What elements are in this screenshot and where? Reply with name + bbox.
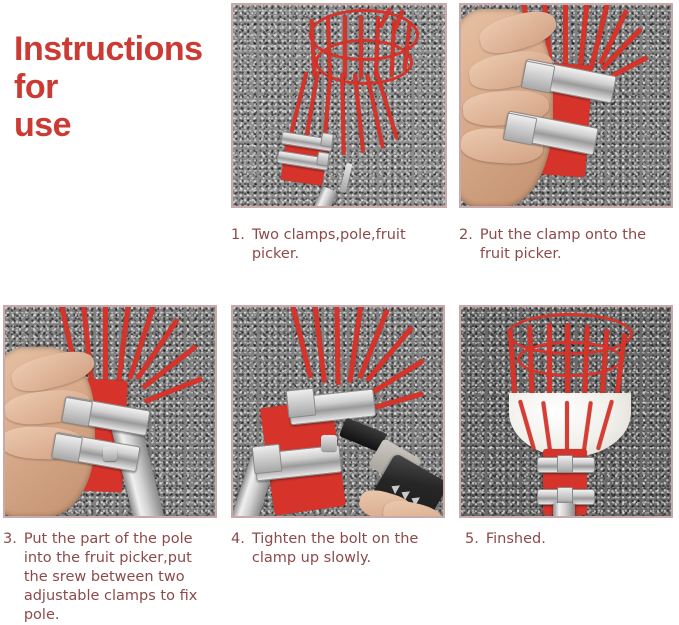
step-1-number: 1. xyxy=(231,226,249,264)
bolt xyxy=(321,435,337,451)
step-4-number: 4. xyxy=(231,530,249,568)
step-4-text: Tighten the bolt on the clamp up slowly. xyxy=(252,530,445,568)
step-5-number: 5. xyxy=(465,530,483,549)
instruction-sheet: Instructions for use xyxy=(0,0,679,622)
step-2-text: Put the clamp onto the fruit picker. xyxy=(480,226,673,264)
step-3-number: 3. xyxy=(3,530,21,625)
page-title-line-1: Instructions xyxy=(14,30,224,68)
step-2-number: 2. xyxy=(459,226,477,264)
step-3-text: Put the part of the pole into the fruit … xyxy=(24,530,215,625)
step-4-photo xyxy=(231,305,445,518)
step-5-photo xyxy=(459,305,673,518)
page-title: Instructions for use xyxy=(14,30,224,144)
step-5-text: Finshed. xyxy=(486,530,675,549)
step-1-caption: 1. Two clamps,pole,fruit picker. xyxy=(231,226,441,264)
metal-pole xyxy=(553,503,575,518)
step-5-caption: 5. Finshed. xyxy=(465,530,675,549)
step-3-photo xyxy=(3,305,217,518)
step-2-photo xyxy=(459,3,673,208)
step-4-caption: 4. Tighten the bolt on the clamp up slow… xyxy=(231,530,445,568)
step-3-caption: 3. Put the part of the pole into the fru… xyxy=(3,530,215,625)
step-1-photo xyxy=(231,3,447,208)
step-1-text: Two clamps,pole,fruit picker. xyxy=(252,226,441,264)
bolt xyxy=(103,447,117,461)
step-2-caption: 2. Put the clamp onto the fruit picker. xyxy=(459,226,673,264)
page-title-line-3: use xyxy=(14,106,224,144)
page-title-line-2: for xyxy=(14,68,224,106)
